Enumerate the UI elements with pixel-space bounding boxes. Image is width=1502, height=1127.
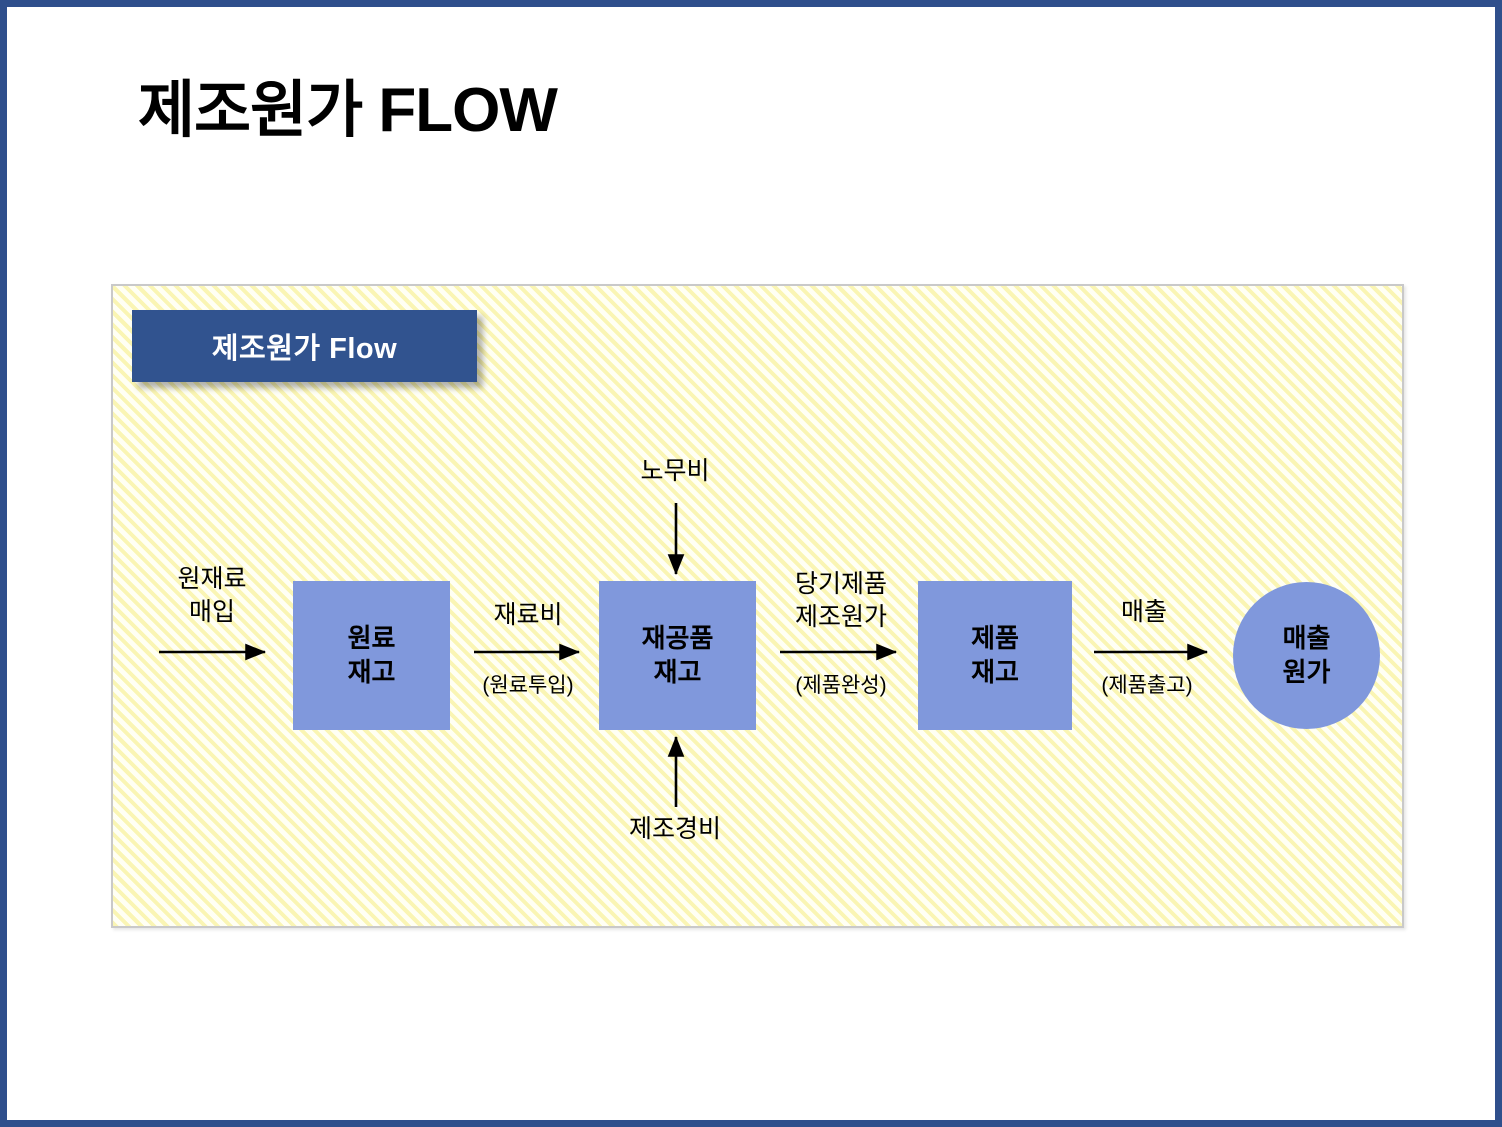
flow-label-overhead-cost: 제조경비 bbox=[615, 813, 735, 846]
flow-label-cogm-line1: 당기제품 bbox=[779, 568, 903, 601]
page-title: 제조원가 FLOW bbox=[138, 77, 557, 145]
node-work-in-process-inventory-line2: 재고 bbox=[654, 656, 702, 689]
node-cost-of-goods-sold-line2: 원가 bbox=[1283, 656, 1331, 689]
flow-sublabel-material-input: (원료투입) bbox=[462, 672, 594, 699]
flow-label-sales: 매출 bbox=[1099, 596, 1189, 629]
node-finished-goods-inventory-line1: 제품 bbox=[971, 622, 1019, 655]
node-raw-material-inventory-line1: 원료 bbox=[348, 622, 396, 655]
flow-sublabel-product-ship: (제품출고) bbox=[1084, 672, 1210, 699]
node-cost-of-goods-sold-line1: 매출 bbox=[1283, 622, 1331, 655]
node-raw-material-inventory-line2: 재고 bbox=[348, 656, 396, 689]
flow-label-purchase-line1: 원재료 bbox=[157, 563, 267, 596]
flow-label-cogm: 당기제품 제조원가 bbox=[779, 568, 903, 633]
flow-label-material-cost: 재료비 bbox=[474, 599, 582, 632]
node-raw-material-inventory: 원료 재고 bbox=[293, 581, 450, 730]
node-cost-of-goods-sold: 매출 원가 bbox=[1233, 582, 1380, 729]
slide-canvas: 제조원가 FLOW 제조원가 Flow bbox=[0, 0, 1502, 1127]
node-finished-goods-inventory: 제품 재고 bbox=[918, 581, 1072, 730]
node-work-in-process-inventory: 재공품 재고 bbox=[599, 581, 756, 730]
flow-sublabel-product-complete: (제품완성) bbox=[775, 672, 907, 699]
section-banner: 제조원가 Flow bbox=[132, 310, 477, 382]
node-work-in-process-inventory-line1: 재공품 bbox=[642, 622, 714, 655]
flow-label-cogm-line2: 제조원가 bbox=[779, 601, 903, 634]
node-finished-goods-inventory-line2: 재고 bbox=[971, 656, 1019, 689]
flow-label-purchase: 원재료 매입 bbox=[157, 563, 267, 628]
flow-label-purchase-line2: 매입 bbox=[157, 596, 267, 629]
flow-label-labor-cost: 노무비 bbox=[619, 455, 731, 488]
section-banner-label: 제조원가 Flow bbox=[212, 325, 397, 367]
